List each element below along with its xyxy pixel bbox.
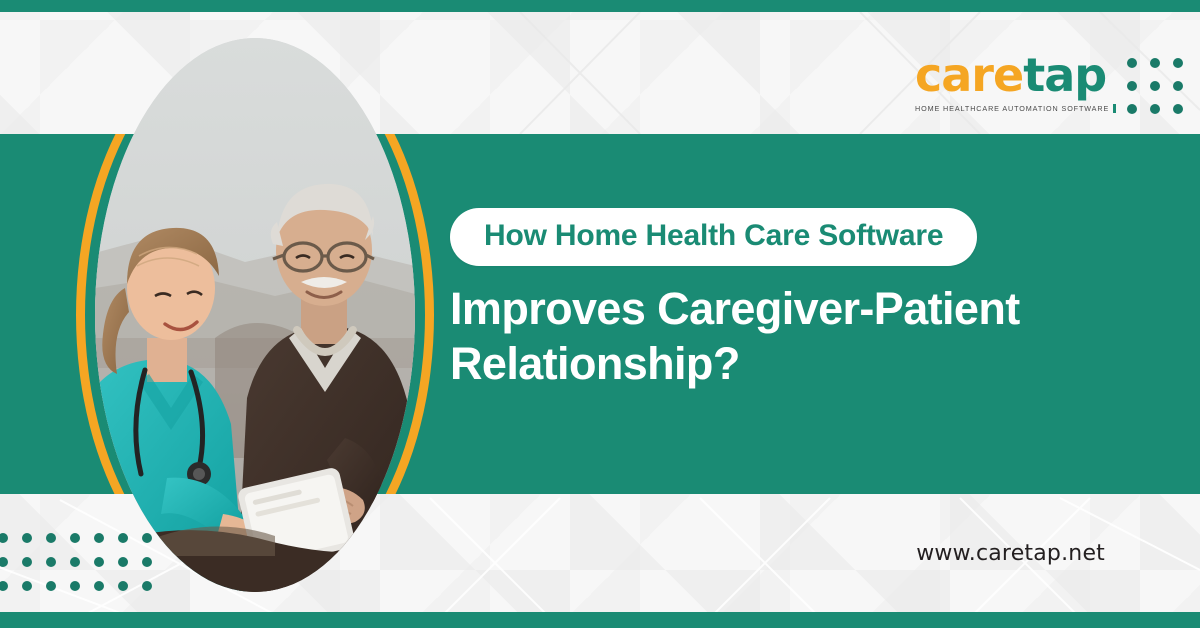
dot — [1127, 104, 1137, 114]
dot — [1150, 81, 1160, 91]
dot — [46, 581, 56, 591]
brand-logo[interactable]: caretap HOME HEALTHCARE AUTOMATION SOFTW… — [915, 52, 1105, 116]
website-url[interactable]: www.caretap.net — [916, 541, 1105, 566]
dot — [70, 533, 80, 543]
dot — [1127, 81, 1137, 91]
dot — [118, 533, 128, 543]
dot — [0, 533, 8, 543]
hero-photo — [95, 38, 415, 592]
headline-pill: How Home Health Care Software — [450, 208, 977, 266]
promo-banner: How Home Health Care Software Improves C… — [0, 0, 1200, 628]
dot — [22, 581, 32, 591]
dot — [1150, 104, 1160, 114]
dot — [22, 533, 32, 543]
logo-tagline: HOME HEALTHCARE AUTOMATION SOFTWARE — [915, 104, 1116, 113]
dot — [70, 581, 80, 591]
dot — [0, 557, 8, 567]
dot — [46, 557, 56, 567]
dot — [142, 533, 152, 543]
headline-block: How Home Health Care Software Improves C… — [450, 208, 1110, 392]
dot-grid-top-right — [1127, 58, 1183, 114]
bottom-accent-strip — [0, 612, 1200, 628]
logo-wordmark: caretap — [915, 52, 1105, 98]
top-accent-strip — [0, 0, 1200, 12]
dot — [118, 581, 128, 591]
caregiver-patient-illustration — [95, 38, 415, 592]
dot — [1173, 104, 1183, 114]
dot — [142, 581, 152, 591]
dot — [94, 557, 104, 567]
dot-grid-bottom-left — [0, 533, 152, 591]
logo-tap-text: tap — [1023, 48, 1106, 102]
dot — [1173, 81, 1183, 91]
dot — [70, 557, 80, 567]
dot — [22, 557, 32, 567]
dot — [94, 533, 104, 543]
dot — [46, 533, 56, 543]
logo-care-text: care — [915, 48, 1023, 102]
dot — [118, 557, 128, 567]
page-title: Improves Caregiver-Patient Relationship? — [450, 282, 1110, 392]
dot — [1150, 58, 1160, 68]
dot — [94, 581, 104, 591]
dot — [1127, 58, 1137, 68]
dot — [0, 581, 8, 591]
dot — [1173, 58, 1183, 68]
dot — [142, 557, 152, 567]
